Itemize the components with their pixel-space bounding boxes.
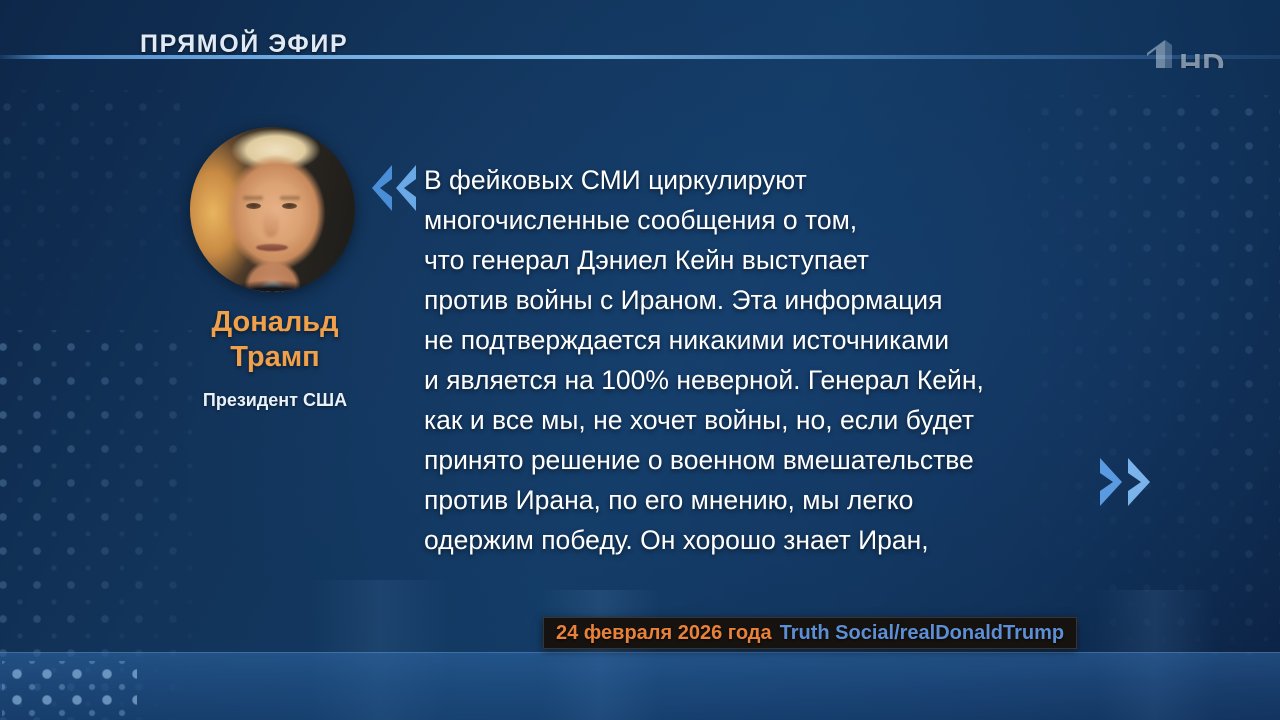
quote-source: Truth Social/realDonaldTrump — [780, 622, 1065, 645]
avatar — [190, 127, 355, 292]
photo-detail — [250, 255, 296, 273]
one-logo-icon — [1145, 40, 1175, 68]
hex-dot-pattern-bottom-decoration — [2, 661, 137, 719]
quote-date: 24 февраля 2026 года — [556, 622, 772, 645]
broadcast-lower-third-graphic: ПРЯМОЙ ЭФИР HD Дональд Трамп Презид — [0, 0, 1280, 720]
photo-detail — [246, 203, 261, 209]
double-chevron-left-icon — [372, 163, 420, 213]
photo-detail — [280, 196, 300, 200]
channel-logo: HD — [1145, 40, 1225, 68]
quote-text: В фейковых СМИ циркулируют многочисленны… — [424, 160, 1064, 560]
hd-quality-label: HD — [1179, 51, 1225, 68]
photo-detail — [243, 196, 263, 200]
bottom-band-decoration — [0, 652, 1280, 720]
photo-detail — [282, 203, 297, 209]
hex-dot-pattern-right-decoration — [1028, 95, 1280, 655]
attribution-bar: 24 февраля 2026 года Truth Social/realDo… — [543, 617, 1077, 649]
photo-detail — [263, 209, 279, 237]
live-broadcast-label: ПРЯМОЙ ЭФИР — [140, 30, 348, 59]
double-chevron-right-icon — [1096, 455, 1156, 509]
speaker-avatar — [190, 127, 355, 292]
photo-detail — [256, 244, 288, 251]
broadcast-header-bar: ПРЯМОЙ ЭФИР HD — [0, 0, 1280, 68]
